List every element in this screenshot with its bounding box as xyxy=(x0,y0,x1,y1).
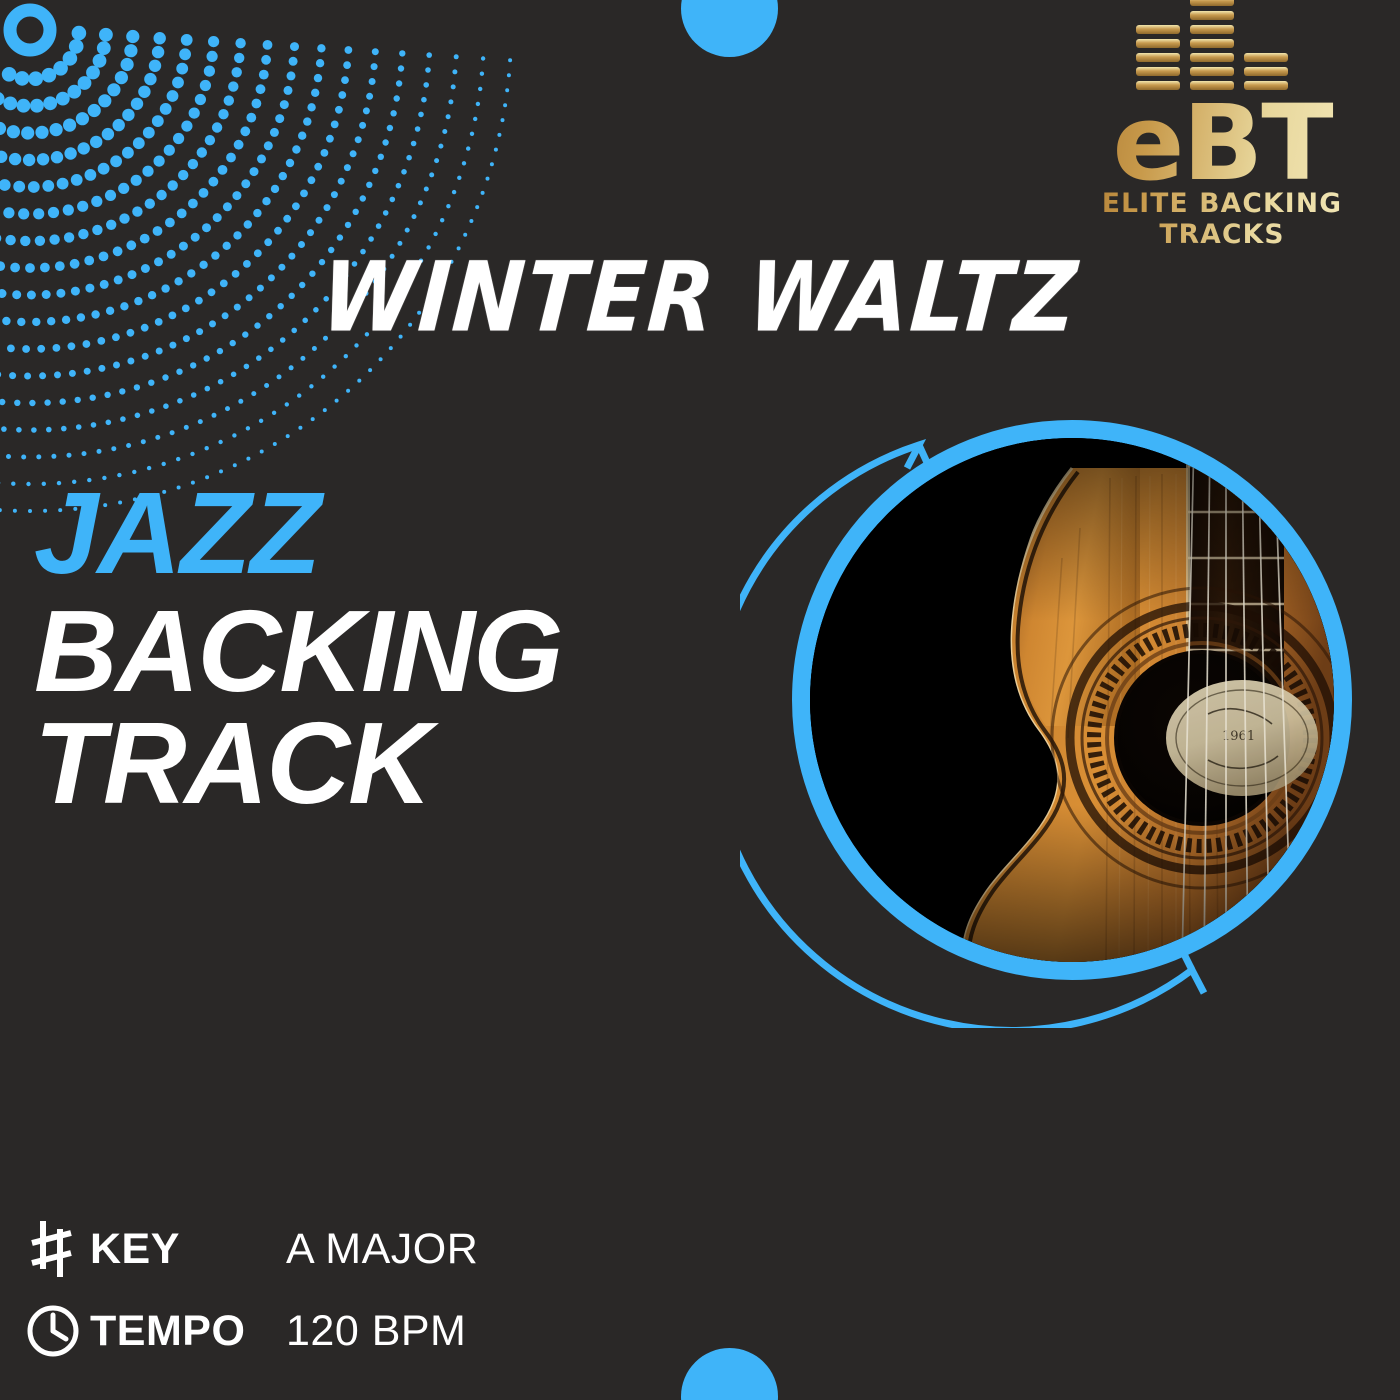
equalizer-bar xyxy=(1136,25,1180,34)
hero-image-block: 1961 xyxy=(740,408,1360,1028)
equalizer-bar xyxy=(1190,67,1234,76)
equalizer-bar xyxy=(1190,11,1234,20)
info-label-key: KEY xyxy=(90,1225,286,1274)
top-blue-circle-decoration xyxy=(681,0,778,57)
brand-logo: eBT ELITE BACKING TRACKS xyxy=(1062,10,1382,250)
equalizer-bar xyxy=(1136,53,1180,62)
bottom-blue-circle-decoration xyxy=(681,1348,778,1400)
headline-genre: JAZZ xyxy=(34,480,561,588)
guitar-photo: 1961 xyxy=(810,438,1334,962)
equalizer-bar xyxy=(1244,67,1288,76)
equalizer-bar xyxy=(1190,25,1234,34)
equalizer-column-1 xyxy=(1136,25,1180,90)
info-label-tempo: TEMPO xyxy=(90,1307,286,1356)
clock-icon xyxy=(26,1304,90,1358)
poster-canvas: eBT ELITE BACKING TRACKS WINTER WALTZ JA… xyxy=(0,0,1400,1400)
info-value-tempo: 120 BPM xyxy=(286,1307,466,1356)
equalizer-column-2 xyxy=(1190,0,1234,90)
track-info-block: KEY A MAJOR TEMPO 120 BPM xyxy=(26,1208,478,1372)
equalizer-bar xyxy=(1244,53,1288,62)
equalizer-bar xyxy=(1190,0,1234,6)
logo-wordmark: eBT xyxy=(1059,96,1385,192)
hero-photo-ring: 1961 xyxy=(792,420,1352,980)
headline-line-track: TRACK xyxy=(34,710,561,818)
guitar-illustration: 1961 xyxy=(810,438,1334,962)
equalizer-icon xyxy=(1062,10,1382,90)
headline-line-backing: BACKING xyxy=(34,598,561,706)
equalizer-bar xyxy=(1190,53,1234,62)
info-row-key: KEY A MAJOR xyxy=(26,1208,478,1290)
info-row-tempo: TEMPO 120 BPM xyxy=(26,1290,478,1372)
equalizer-bar xyxy=(1136,39,1180,48)
equalizer-bar xyxy=(1190,39,1234,48)
headline-block: JAZZ BACKING TRACK xyxy=(34,480,561,818)
track-title: WINTER WALTZ xyxy=(0,242,1400,354)
info-value-key: A MAJOR xyxy=(286,1225,478,1274)
sharp-icon xyxy=(26,1217,90,1281)
equalizer-bar xyxy=(1136,67,1180,76)
